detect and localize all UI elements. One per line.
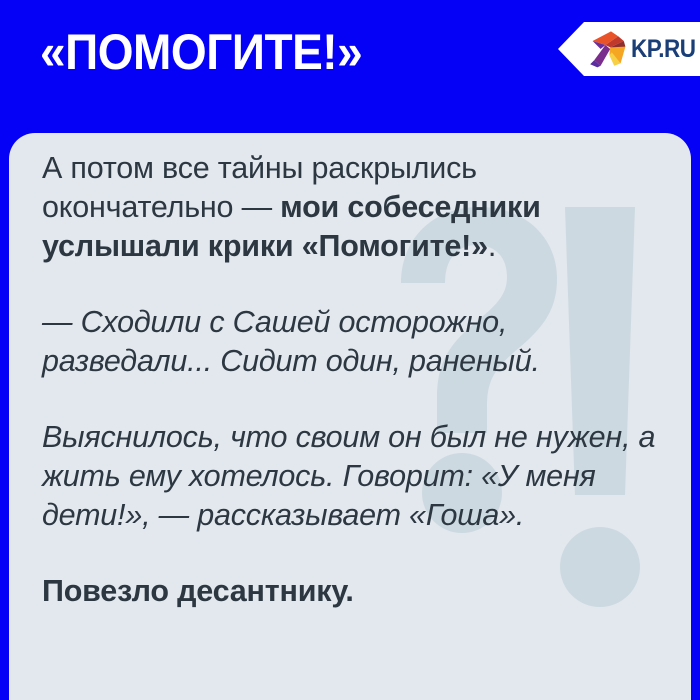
page-title: «ПОМОГИТЕ!» xyxy=(40,27,362,77)
paragraph-4: Повезло десантнику. xyxy=(42,572,662,611)
article-body: А потом все тайны раскрылись окончательн… xyxy=(42,149,662,611)
kp-ru-logo[interactable]: KP.RU xyxy=(558,22,700,76)
kp-ru-logo-text: KP.RU xyxy=(631,37,695,62)
content-card: А потом все тайны раскрылись окончательн… xyxy=(9,133,691,700)
paragraph-1-tail: . xyxy=(488,229,496,263)
paragraph-3: Выяснилось, что своим он был не нужен, а… xyxy=(42,418,662,535)
swallow-bird-icon xyxy=(586,29,628,69)
paragraph-1: А потом все тайны раскрылись окончательн… xyxy=(42,149,662,266)
header-banner: «ПОМОГИТЕ!» KP.RU xyxy=(0,0,700,140)
paragraph-2: — Сходили с Сашей осторожно, разведали..… xyxy=(42,303,662,381)
